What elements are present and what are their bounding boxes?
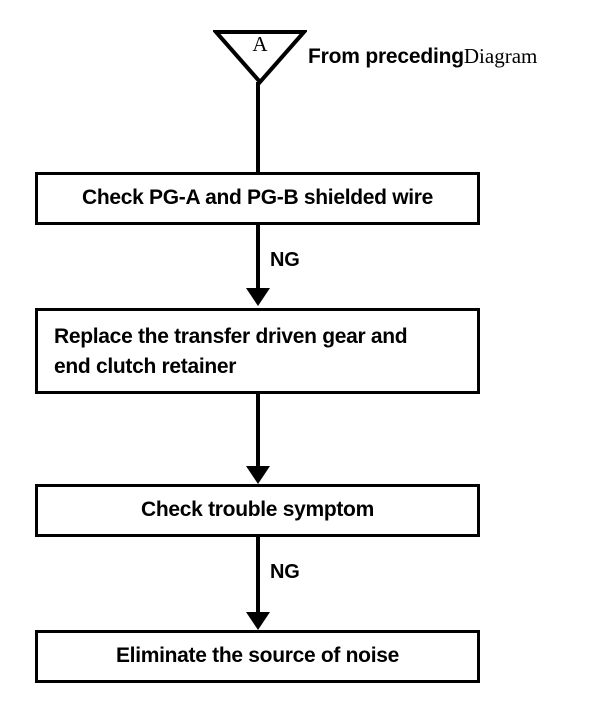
edge-label-ng-2: NG [270, 561, 300, 583]
process-box-eliminate-noise-source[interactable]: Eliminate the source of noise [35, 630, 480, 683]
process-box-label: Check trouble symptom [38, 487, 477, 525]
process-box-label: Eliminate the source of noise [38, 633, 477, 671]
process-box-label: Check PG-A and PG-B shielded wire [38, 175, 477, 213]
process-box-check-trouble-symptom[interactable]: Check trouble symptom [35, 484, 480, 537]
connector-caption-serif: Diagram [464, 44, 537, 68]
connector-label-a: A [213, 33, 307, 55]
flowchart-canvas: A From precedingDiagram Check PG-A and P… [0, 0, 608, 728]
arrowhead-icon [246, 612, 270, 630]
edge-line-box-3-to-box-4 [256, 537, 260, 612]
edge-line-connector-to-box-1 [256, 82, 260, 174]
connector-caption: From precedingDiagram [308, 44, 537, 69]
process-box-replace-gear-and-retainer[interactable]: Replace the transfer driven gear and end… [35, 308, 480, 394]
process-box-label: Replace the transfer driven gear and end… [38, 311, 477, 382]
connector-caption-bold: From preceding [308, 45, 464, 68]
edge-line-box-1-to-box-2 [256, 225, 260, 288]
arrowhead-icon [246, 466, 270, 484]
process-box-check-shielded-wire[interactable]: Check PG-A and PG-B shielded wire [35, 172, 480, 225]
edge-line-box-2-to-box-3 [256, 394, 260, 466]
arrowhead-icon [246, 288, 270, 306]
edge-label-ng-1: NG [270, 249, 300, 271]
